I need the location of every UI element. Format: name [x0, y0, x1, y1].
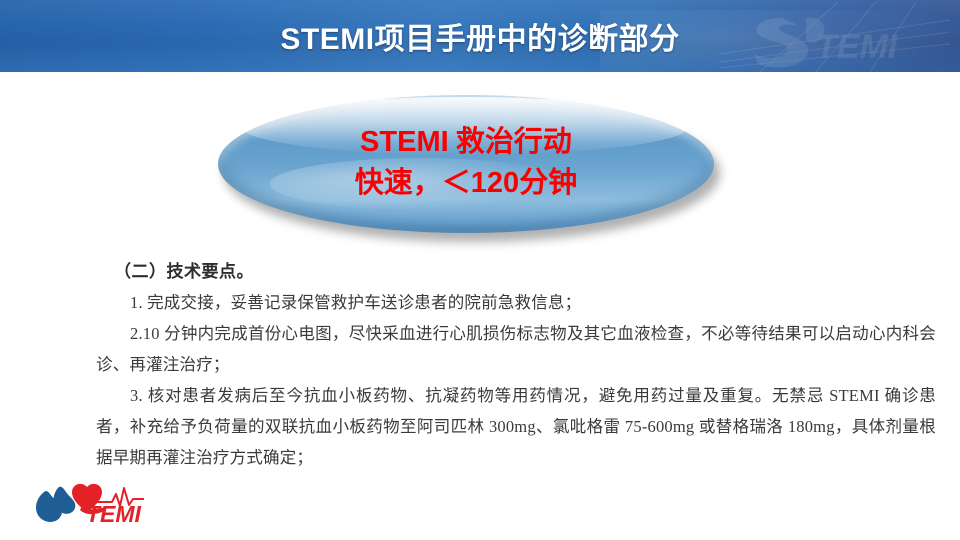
callout-line-2-suffix: 分钟	[519, 167, 577, 199]
document-paragraph-3: 3. 核对患者发病后至今抗血小板药物、抗凝药物等用药情况，避免用药过量及重复。无…	[96, 380, 936, 473]
slide-canvas: TEMI STEMI项目手册中的诊断部分 STEMI 救治行动 快速，＜120分…	[0, 0, 960, 540]
callout-line-1-cjk: 救治行动	[449, 126, 572, 158]
page-title: STEMI项目手册中的诊断部分	[0, 14, 960, 58]
logo-wordmark: TEMI	[86, 501, 142, 527]
document-paragraph-2: 2.10 分钟内完成首份心电图，尽快采血进行心肌损伤标志物及其它血液检查，不必等…	[96, 318, 936, 380]
callout-line-2-prefix: 快速，＜	[355, 167, 471, 199]
callout-ellipse: STEMI 救治行动 快速，＜120分钟	[214, 92, 726, 242]
callout-line-2: 快速，＜120分钟	[218, 163, 714, 204]
scanned-document-text: （二）技术要点。 1. 完成交接，妥善记录保管救护车送诊患者的院前急救信息； 2…	[96, 256, 936, 473]
callout-line-1-latin: STEMI	[360, 126, 449, 158]
slide-header-banner: TEMI STEMI项目手册中的诊断部分	[0, 0, 960, 72]
callout-text: STEMI 救治行动 快速，＜120分钟	[218, 122, 714, 204]
temi-logo: TEMI	[30, 478, 148, 530]
callout-line-2-number: 120	[471, 167, 519, 199]
document-heading: （二）技术要点。	[96, 256, 936, 287]
callout-line-1: STEMI 救治行动	[218, 122, 714, 163]
document-paragraph-1: 1. 完成交接，妥善记录保管救护车送诊患者的院前急救信息；	[96, 287, 936, 318]
